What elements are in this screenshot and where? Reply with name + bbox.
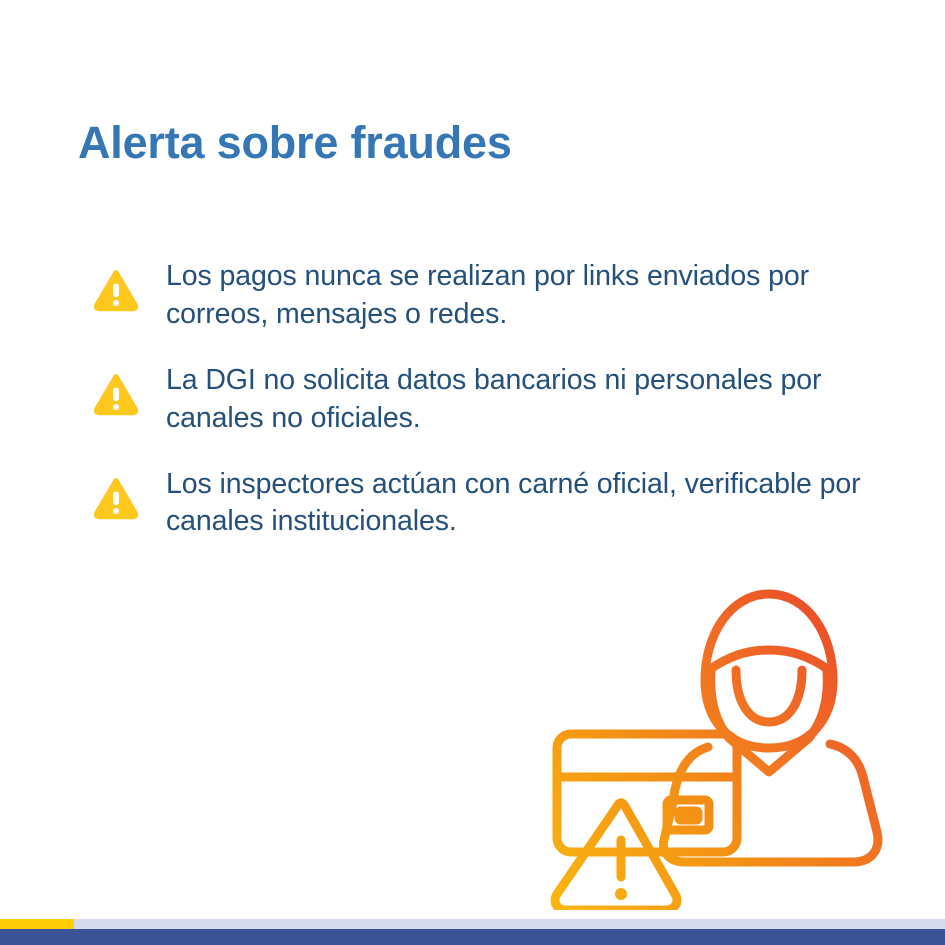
footer-band (0, 929, 945, 945)
bullet-list: Los pagos nunca se realizan por links en… (92, 258, 912, 541)
page-title: Alerta sobre fraudes (78, 118, 512, 168)
credit-card-icon (557, 734, 737, 852)
slide-root: Alerta sobre fraudes Los pagos nunca se … (0, 0, 945, 945)
list-item: Los inspectores actúan con carné oficial… (92, 466, 912, 542)
list-item-text: Los pagos nunca se realizan por links en… (166, 258, 912, 334)
fraudster-credit-card-warning-illustration (533, 572, 905, 910)
footer-accent-bar (0, 919, 74, 929)
footer-bars (0, 919, 945, 945)
list-item-text: Los inspectores actúan con carné oficial… (166, 466, 912, 542)
list-item-text: La DGI no solicita datos bancarios ni pe… (166, 362, 912, 438)
warning-triangle-icon (92, 372, 140, 418)
warning-triangle-icon (92, 476, 140, 522)
footer-thin-bar (0, 919, 945, 929)
list-item: La DGI no solicita datos bancarios ni pe… (92, 362, 912, 438)
warning-triangle-icon (92, 268, 140, 314)
list-item: Los pagos nunca se realizan por links en… (92, 258, 912, 334)
